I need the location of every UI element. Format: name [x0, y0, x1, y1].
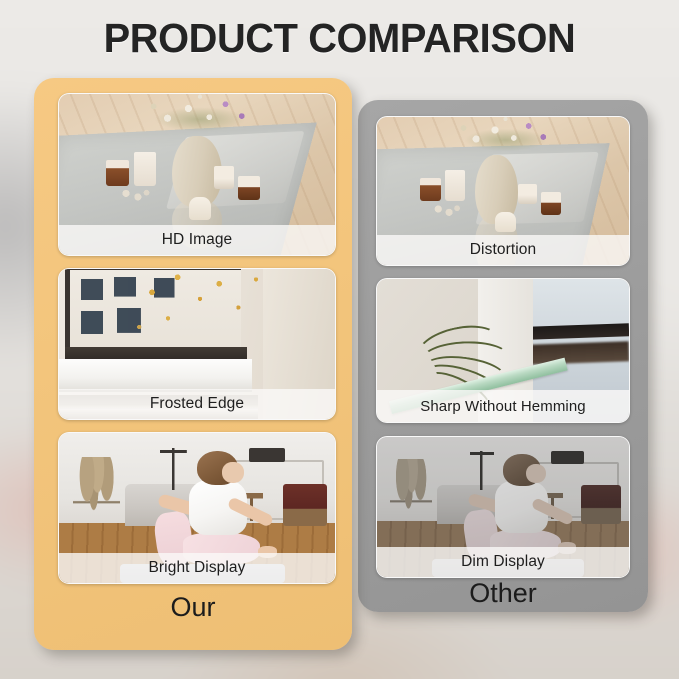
frosted-mirror-panel: [59, 359, 252, 392]
other-panel-footer-label: Other: [358, 578, 648, 609]
pampas-grass: [390, 459, 433, 532]
candle: [189, 197, 211, 220]
card-label: Bright Display: [59, 553, 335, 583]
candle: [238, 176, 260, 200]
candle: [106, 160, 129, 186]
card-label: Frosted Edge: [59, 389, 335, 419]
pampas-grass: [73, 457, 120, 535]
candle: [518, 184, 537, 205]
armchair: [283, 484, 327, 526]
candle: [214, 166, 235, 189]
flower-bouquet: [453, 116, 559, 161]
candle: [541, 192, 561, 214]
decor-pebbles: [117, 187, 153, 203]
card-distortion[interactable]: Distortion: [376, 116, 630, 266]
face: [526, 464, 546, 484]
candle: [420, 178, 441, 202]
armchair: [581, 485, 621, 524]
candle: [445, 170, 465, 201]
other-product-panel: Distortion Sharp Without Hemming: [358, 100, 648, 612]
card-frosted-edge[interactable]: Frosted Edge: [58, 268, 336, 420]
candle: [134, 152, 156, 186]
card-sharp-without-hemming[interactable]: Sharp Without Hemming: [376, 278, 630, 423]
candle: [495, 212, 515, 233]
decor-pebbles: [430, 203, 463, 218]
our-panel-footer-label: Our: [34, 592, 352, 623]
page-title: PRODUCT COMPARISON: [10, 14, 669, 62]
face: [222, 462, 244, 483]
card-hd-image[interactable]: HD Image: [58, 93, 336, 256]
dark-bar-blur: [528, 342, 629, 366]
card-label: Distortion: [377, 235, 629, 265]
card-label: Sharp Without Hemming: [377, 390, 629, 422]
comparison-stage: PRODUCT COMPARISON HD Image: [0, 0, 679, 679]
card-label: HD Image: [59, 225, 335, 255]
card-dim-display[interactable]: Dim Display: [376, 436, 630, 578]
card-bright-display[interactable]: Bright Display: [58, 432, 336, 584]
our-product-panel: HD Image Frosted Edge: [34, 78, 352, 650]
flower-bouquet: [142, 93, 258, 142]
card-label: Dim Display: [377, 547, 629, 577]
